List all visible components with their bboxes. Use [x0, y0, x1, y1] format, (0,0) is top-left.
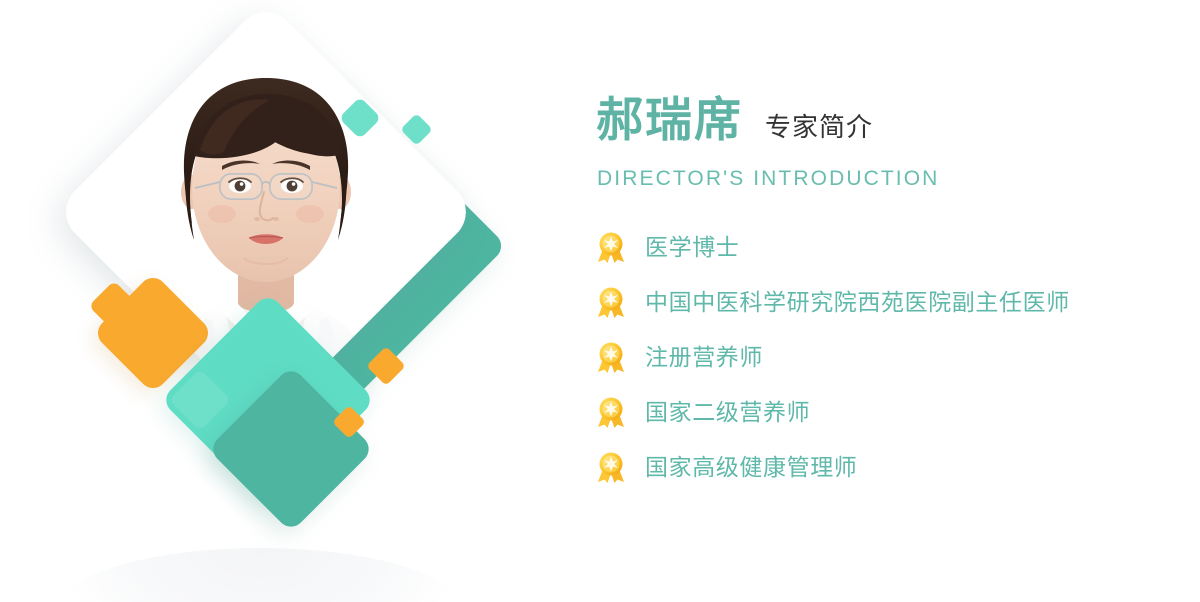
expert-introduction-page: 郝瑞席 专家简介 DIRECTOR'S INTRODUCTION [0, 0, 1200, 602]
list-item: 国家二级营养师 [596, 391, 1070, 433]
title-row: 郝瑞席 专家简介 [596, 97, 873, 144]
gold-medal-icon [596, 450, 626, 484]
credentials-list: 医学博士 中国中医科学研究院西苑医院副主任医师 [596, 226, 1070, 501]
credential-label: 国家高级健康管理师 [645, 456, 857, 479]
list-item: 医学博士 [596, 226, 1070, 268]
section-subtitle-en: DIRECTOR'S INTRODUCTION [597, 168, 939, 189]
list-item: 国家高级健康管理师 [596, 446, 1070, 488]
credential-label: 注册营养师 [645, 346, 763, 369]
gold-medal-icon [596, 395, 626, 429]
list-item: 中国中医科学研究院西苑医院副主任医师 [596, 281, 1070, 323]
section-subtitle-cn: 专家简介 [765, 114, 873, 140]
introduction-panel: 郝瑞席 专家简介 DIRECTOR'S INTRODUCTION [596, 0, 1186, 602]
gold-medal-icon [596, 230, 626, 264]
portrait-graphic-cluster [0, 0, 560, 602]
expert-name: 郝瑞席 [596, 97, 743, 144]
credential-label: 中国中医科学研究院西苑医院副主任医师 [645, 291, 1070, 314]
list-item: 注册营养师 [596, 336, 1070, 378]
credential-label: 国家二级营养师 [645, 401, 810, 424]
gold-medal-icon [596, 340, 626, 374]
gold-medal-icon [596, 285, 626, 319]
credential-label: 医学博士 [645, 236, 739, 259]
